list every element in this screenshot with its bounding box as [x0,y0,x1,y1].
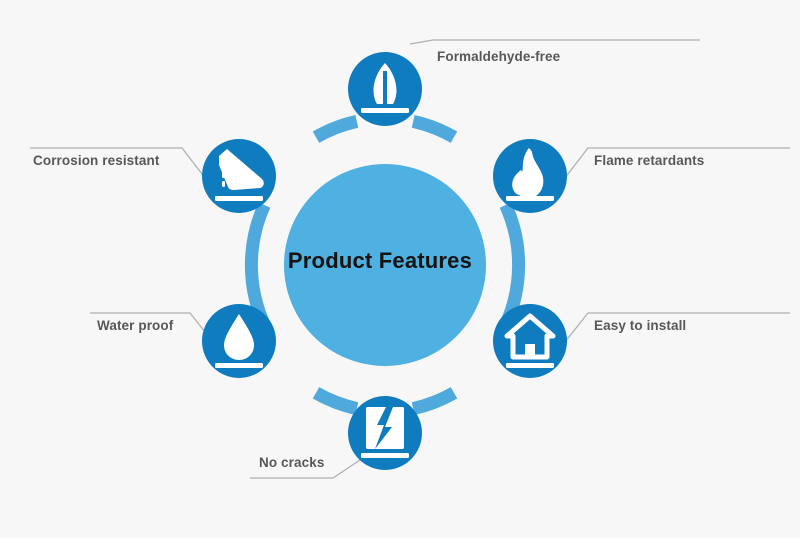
infographic-canvas: Product Features Formaldehyde-free Flame… [0,0,800,538]
node-no-cracks[interactable] [348,396,422,470]
label-water-proof: Water proof [97,318,173,333]
label-corrosion-resistant: Corrosion resistant [33,153,159,168]
center-title: Product Features [250,248,510,274]
ring-arc-bottom-right [413,393,454,409]
node-flame-retardants[interactable] [493,139,567,213]
ring-arc-top-right [413,121,454,137]
leader-line-formaldehyde [410,40,700,44]
node-corrosion-resistant[interactable] [202,139,276,213]
label-flame-retardants: Flame retardants [594,153,704,168]
label-easy-to-install: Easy to install [594,318,686,333]
label-formaldehyde-free: Formaldehyde-free [437,49,560,64]
ring-arc-top-left [316,121,357,137]
node-water-proof[interactable] [202,304,276,378]
node-formaldehyde-free[interactable] [348,52,422,126]
label-no-cracks: No cracks [259,455,324,470]
node-easy-to-install[interactable] [493,304,567,378]
ring-arc-bottom-left [316,393,357,409]
